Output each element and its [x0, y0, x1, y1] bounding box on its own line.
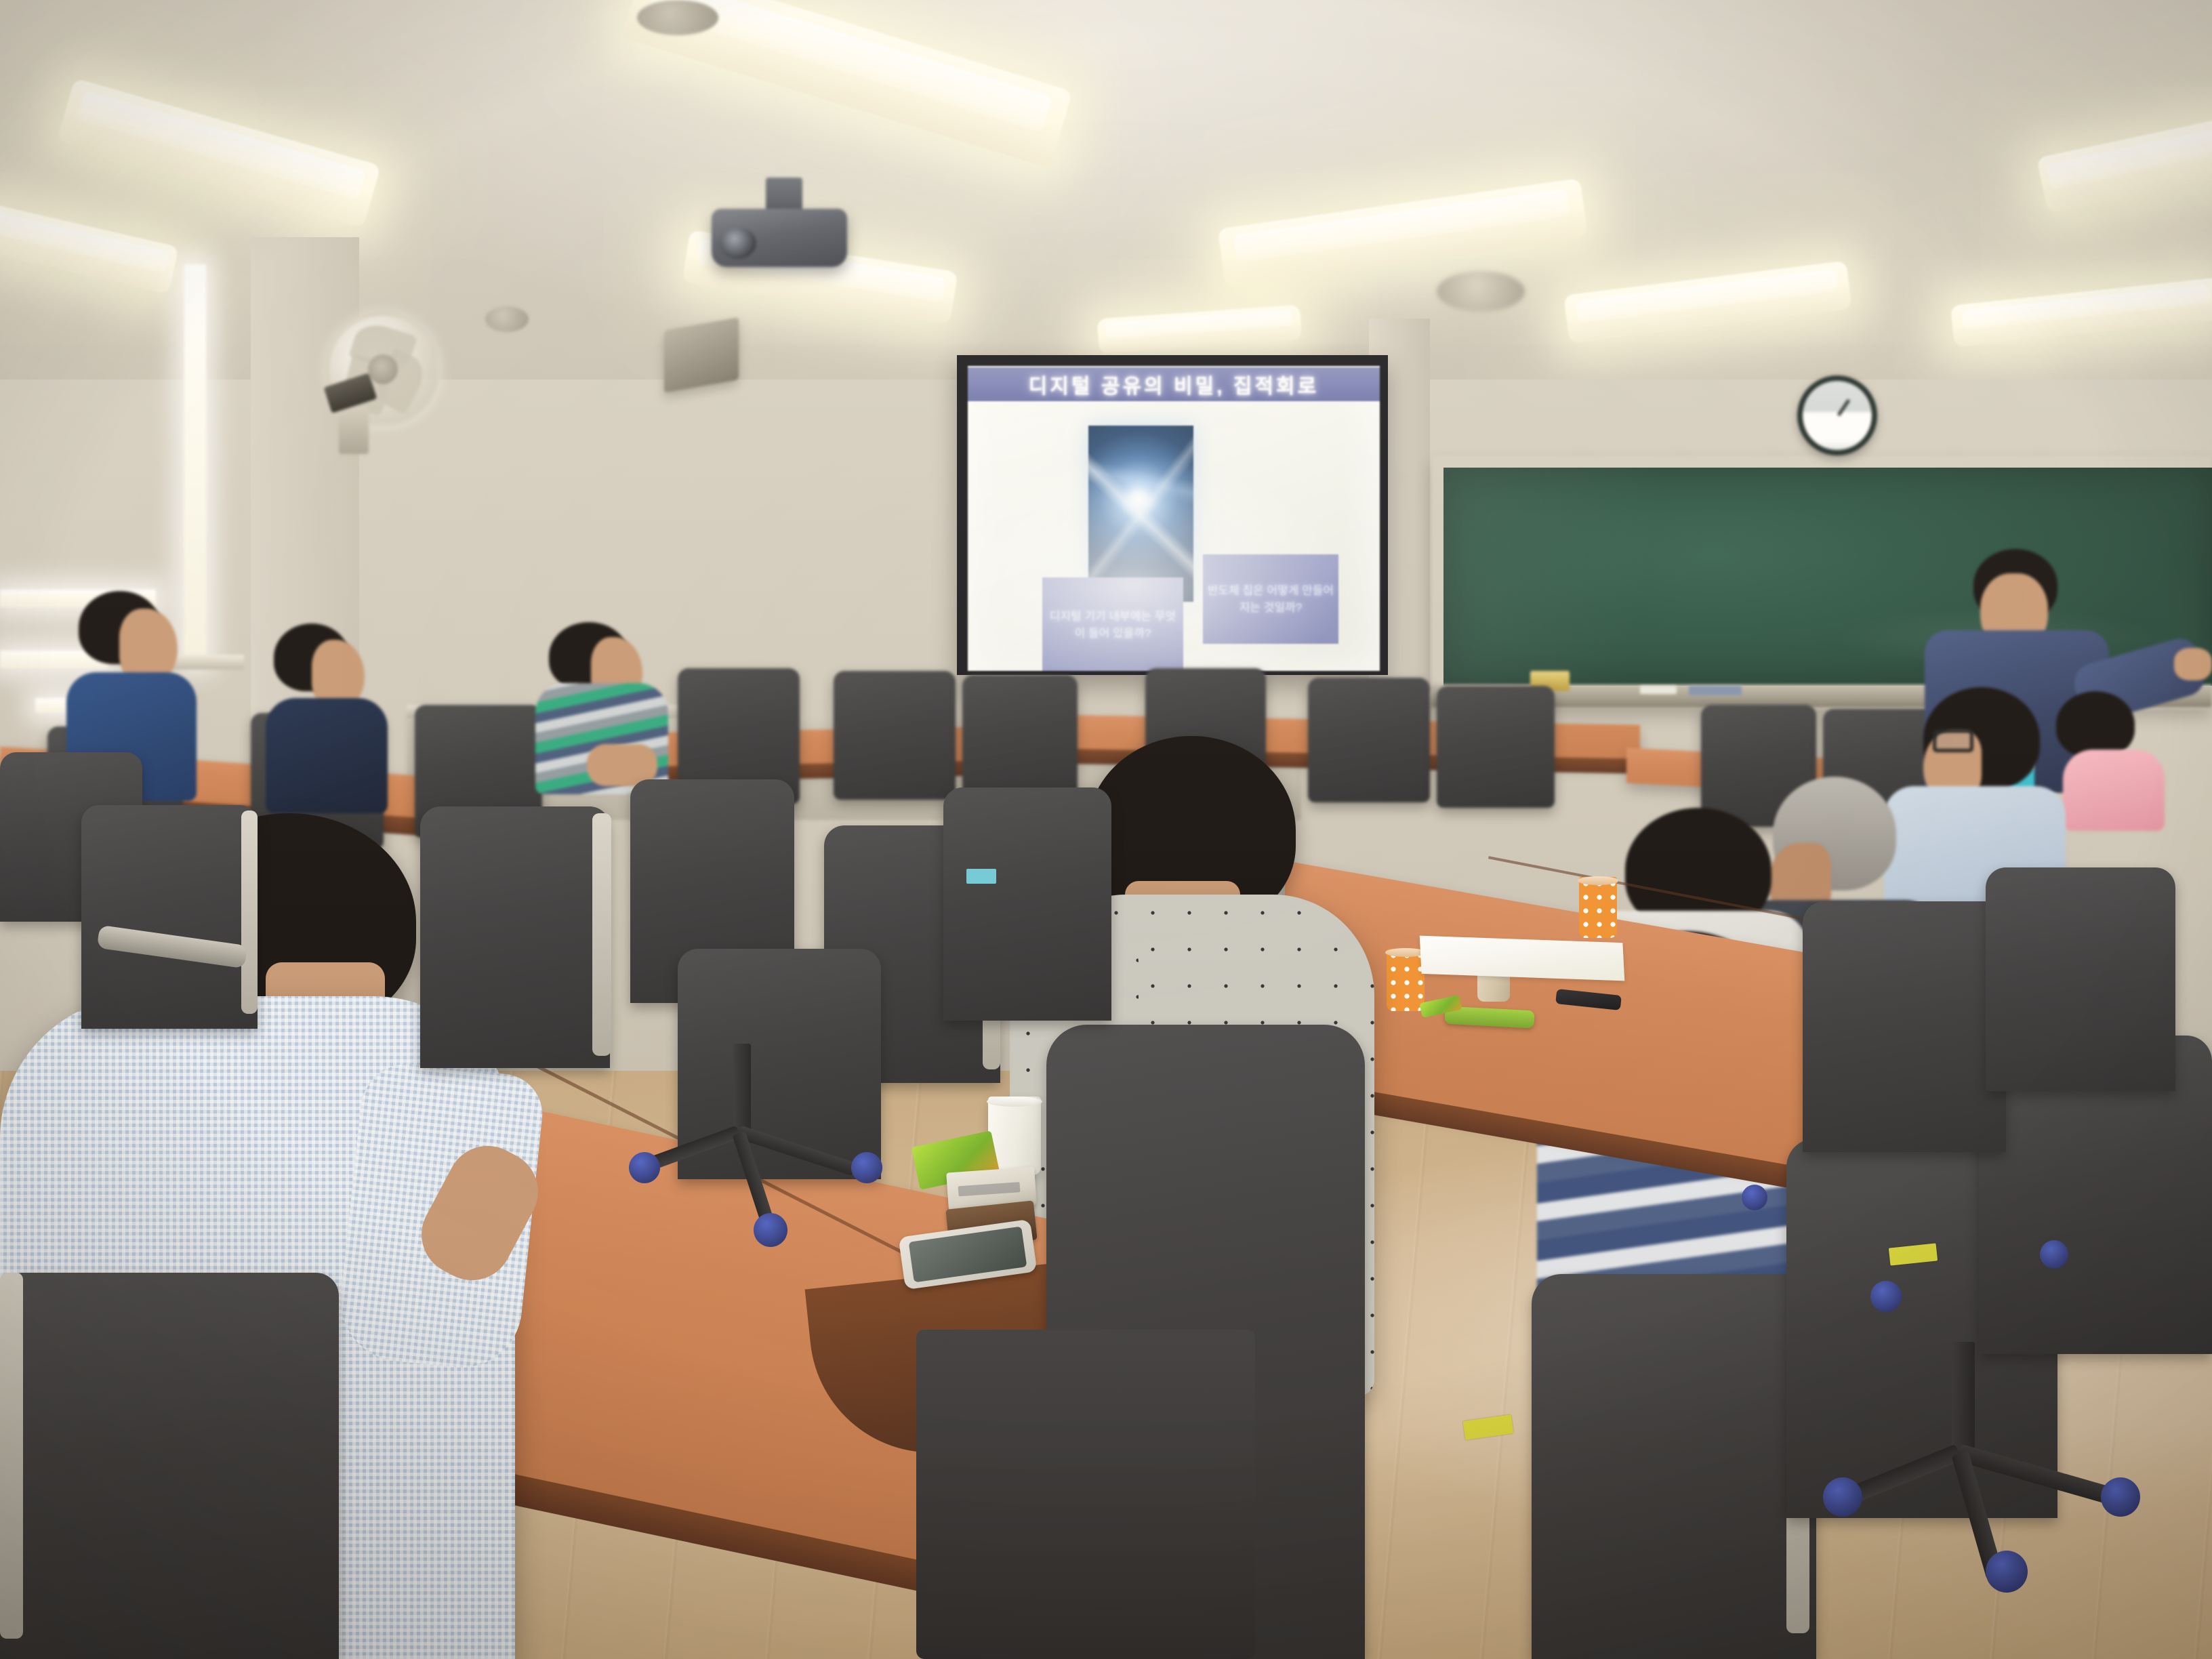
- chair-back-row-5[interactable]: [834, 671, 956, 800]
- ceiling-speaker: [1437, 271, 1525, 312]
- chair-front-center-seat: [916, 1330, 1255, 1659]
- slide-box-left: 디지털 기기 내부에는 무엇이 들어 있을까?: [1042, 577, 1183, 671]
- fan-mount: [339, 407, 369, 454]
- attendee-pink-hair: [2056, 691, 2135, 758]
- caster-mid-2: [629, 1152, 660, 1183]
- slide-photo: [1088, 426, 1193, 602]
- chair-right-1[interactable]: [1532, 1274, 1816, 1659]
- glasses-icon-right: [1933, 729, 1973, 752]
- smoke-detector-2: [485, 306, 529, 332]
- projector-lens-icon: [720, 228, 756, 259]
- chair-left-2-trim: [241, 811, 258, 1014]
- caster-right-6: [1742, 1185, 1767, 1210]
- chair-back-row-6[interactable]: [962, 675, 1078, 800]
- chair-right-5[interactable]: [1986, 867, 2175, 1091]
- caster-right-3: [1986, 1551, 2028, 1593]
- slide-title: 디지털 공유의 비밀, 집적회로: [1029, 369, 1319, 399]
- chair-back-row-8[interactable]: [1308, 678, 1430, 802]
- caster-right-1: [2101, 1477, 2140, 1517]
- slide-title-bar: 디지털 공유의 비밀, 집적회로: [968, 367, 1380, 401]
- presenter-hand: [2174, 648, 2212, 680]
- slide-box-right-text: 반도체 칩은 어떻게 만들어지는 것일까?: [1207, 582, 1334, 617]
- chair-post-mid: [733, 1044, 751, 1132]
- caster-right-4: [1870, 1281, 1902, 1312]
- wall-clock: [1797, 375, 1877, 455]
- caster-right-2: [1823, 1477, 1862, 1517]
- paper-sheet: [1420, 936, 1625, 981]
- slide-box-left-text: 디지털 기기 내부에는 무엇이 들어 있을까?: [1046, 608, 1179, 642]
- fan-hub: [368, 354, 398, 384]
- phone-screen: [908, 1226, 1027, 1283]
- chair-mid-2-trim: [592, 813, 611, 1056]
- caster-mid-3: [754, 1213, 787, 1247]
- chair-post-right: [1952, 1342, 1975, 1450]
- chalk-tray-item: [1689, 686, 1742, 695]
- slide-box-right: 반도체 칩은 어떻게 만들어지는 것일까?: [1203, 554, 1338, 644]
- clock-hour-hand: [1837, 398, 1850, 416]
- caster-mid-1: [851, 1152, 882, 1183]
- chalk-stick: [1640, 686, 1677, 694]
- projection-screen: 디지털 공유의 비밀, 집적회로 디지털 기기 내부에는 무엇이 들어 있을까?…: [968, 366, 1380, 671]
- chair-back-row-9[interactable]: [1437, 686, 1555, 808]
- window-slit-1: [184, 264, 206, 664]
- chair-mid-2[interactable]: [420, 806, 610, 1068]
- wall-speaker: [664, 317, 739, 392]
- seminar-room-photograph: 디지털 공유의 비밀, 집적회로 디지털 기기 내부에는 무엇이 들어 있을까?…: [0, 0, 2212, 1659]
- chair-right-4[interactable]: [1803, 901, 2006, 1152]
- clock-face: [1803, 381, 1871, 449]
- attendee-pink-torso: [2063, 750, 2165, 831]
- caster-right-5: [2040, 1240, 2068, 1269]
- chair-front-left[interactable]: [0, 1273, 339, 1659]
- chair-left-2[interactable]: [81, 805, 258, 1029]
- chair-front-left-trim: [0, 1273, 23, 1639]
- cup-orange-2: [1387, 949, 1425, 1011]
- chair-mid-4[interactable]: [943, 787, 1111, 1021]
- smoke-detector-1: [637, 0, 718, 35]
- attendee-left-2-torso: [266, 698, 388, 813]
- chair-sticker-mid-4: [966, 869, 996, 884]
